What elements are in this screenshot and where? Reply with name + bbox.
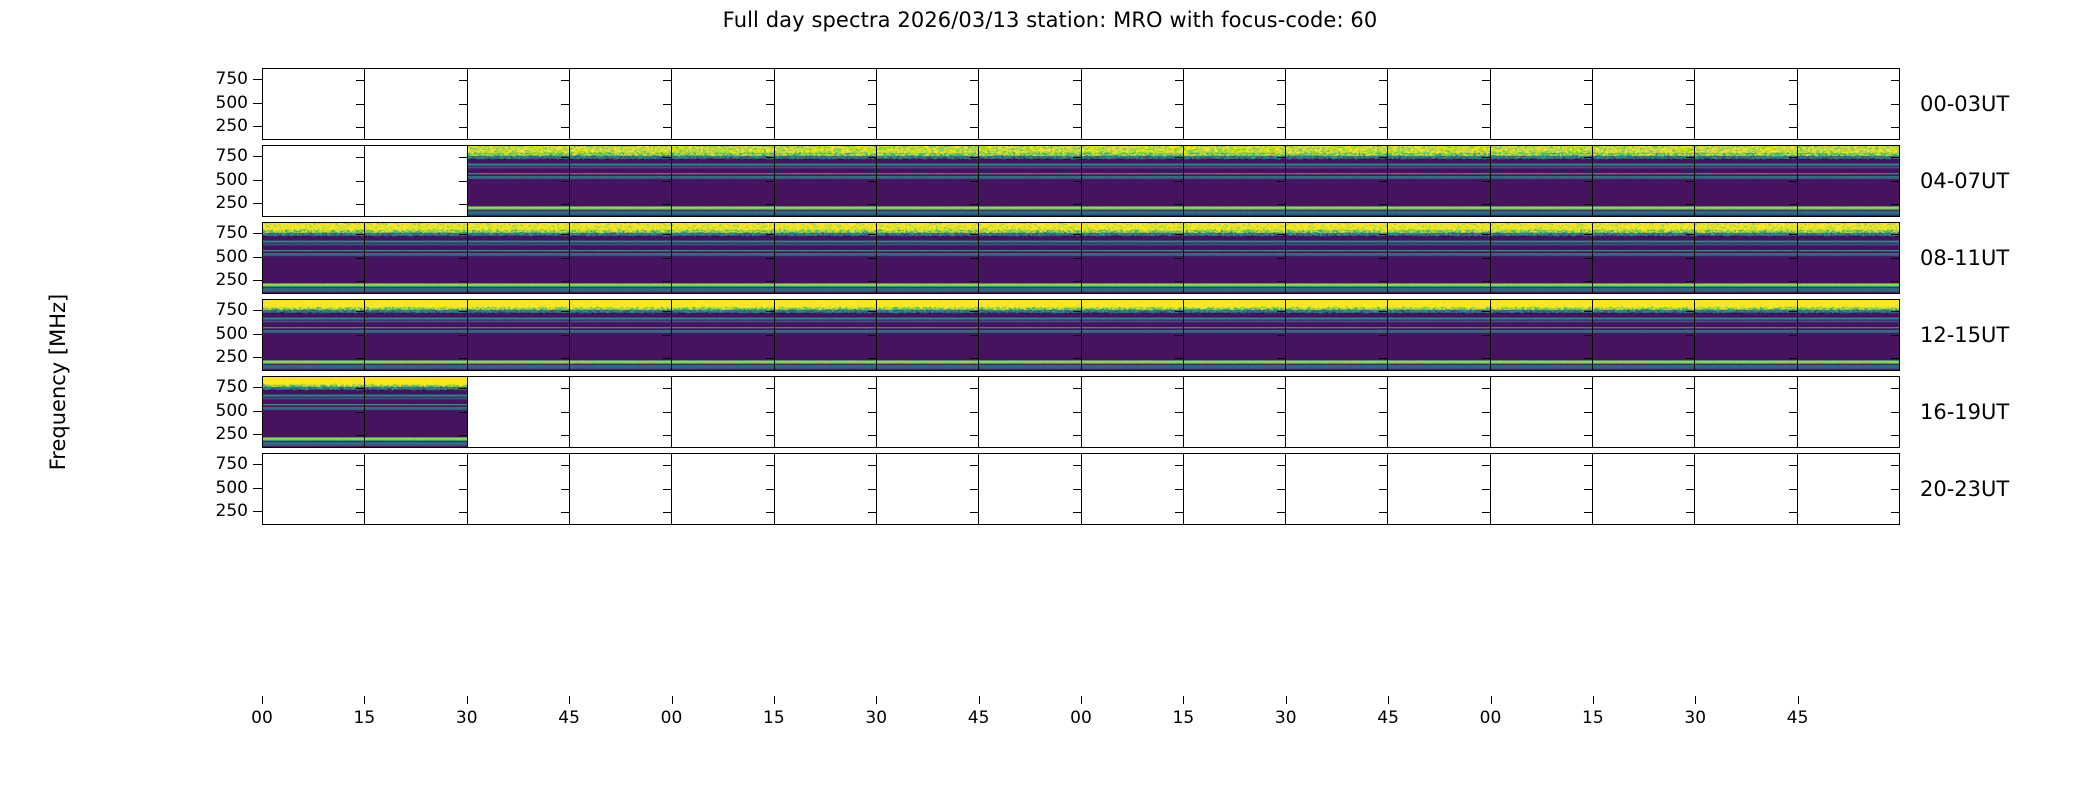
- y-tick-minor: [1891, 258, 1899, 259]
- empty-panel[interactable]: [1695, 69, 1797, 139]
- y-tick-minor: [356, 388, 364, 389]
- y-tick-minor: [868, 127, 876, 128]
- empty-panel[interactable]: [877, 377, 979, 447]
- x-tick-mark: [774, 696, 775, 704]
- row-label-04-07ut: 04-07UT: [1920, 169, 2009, 193]
- spectrogram-panel[interactable]: [979, 223, 1081, 293]
- empty-panel[interactable]: [1388, 454, 1490, 524]
- y-tick-minor: [356, 281, 364, 282]
- y-tick-minor: [766, 181, 774, 182]
- y-tick-minor: [1891, 489, 1899, 490]
- y-tick-minor: [459, 358, 467, 359]
- empty-panel[interactable]: [570, 454, 672, 524]
- empty-panel[interactable]: [1286, 377, 1388, 447]
- y-tick-minor: [1891, 311, 1899, 312]
- y-tick-mark: [253, 488, 262, 489]
- y-tick-minor: [1584, 104, 1592, 105]
- y-tick-minor: [1073, 489, 1081, 490]
- y-tick-minor: [1789, 80, 1797, 81]
- spectrogram-panel[interactable]: [1593, 223, 1695, 293]
- y-tick-minor: [561, 388, 569, 389]
- y-tick-minor: [1482, 157, 1490, 158]
- y-tick-minor: [1175, 311, 1183, 312]
- y-tick-minor: [356, 234, 364, 235]
- y-tick-mark: [253, 464, 262, 465]
- spectrogram-panel[interactable]: [1082, 146, 1184, 216]
- y-tick-minor: [356, 335, 364, 336]
- y-tick-minor: [356, 412, 364, 413]
- spectrogram-panel[interactable]: [1388, 146, 1490, 216]
- spectrogram-panel[interactable]: [877, 223, 979, 293]
- spectrogram-panel[interactable]: [365, 300, 467, 370]
- empty-panel[interactable]: [468, 377, 570, 447]
- y-tick-minor: [766, 465, 774, 466]
- empty-panel[interactable]: [1286, 454, 1388, 524]
- x-tick-label: 15: [354, 708, 376, 728]
- y-tick-minor: [1277, 157, 1285, 158]
- empty-panel[interactable]: [775, 377, 877, 447]
- y-tick-minor: [1891, 465, 1899, 466]
- y-tick-minor: [1584, 388, 1592, 389]
- spectrogram-panel[interactable]: [775, 146, 877, 216]
- y-tick-minor: [1584, 311, 1592, 312]
- empty-panel[interactable]: [1082, 69, 1184, 139]
- y-tick-minor: [1584, 335, 1592, 336]
- y-tick-minor: [459, 127, 467, 128]
- y-tick-minor: [1073, 104, 1081, 105]
- spectrogram-panel[interactable]: [1388, 223, 1490, 293]
- y-tick-mark: [253, 511, 262, 512]
- y-tick-minor: [1379, 465, 1387, 466]
- y-tick-minor: [766, 335, 774, 336]
- spectrogram-panel[interactable]: [365, 223, 467, 293]
- subplot-row-08-11ut: 250500750: [262, 222, 1900, 294]
- y-tick-minor: [1789, 258, 1797, 259]
- y-tick-minor: [356, 435, 364, 436]
- spectrogram-panel[interactable]: [1184, 146, 1286, 216]
- empty-panel[interactable]: [1388, 377, 1490, 447]
- spectrogram-panel[interactable]: [1286, 223, 1388, 293]
- y-tick-minor: [1482, 80, 1490, 81]
- y-tick-minor: [1175, 80, 1183, 81]
- y-tick-minor: [1277, 412, 1285, 413]
- empty-panel[interactable]: [1082, 454, 1184, 524]
- spectrogram-panel[interactable]: [877, 300, 979, 370]
- y-tick-minor: [1175, 435, 1183, 436]
- x-tick-mark: [467, 696, 468, 704]
- y-tick-minor: [663, 435, 671, 436]
- empty-panel[interactable]: [979, 69, 1081, 139]
- y-tick-minor: [970, 412, 978, 413]
- y-tick-minor: [459, 181, 467, 182]
- x-tick-label: 00: [251, 708, 273, 728]
- y-axis-label: Frequency [MHz]: [46, 232, 70, 532]
- y-tick-minor: [970, 258, 978, 259]
- y-tick-minor: [663, 311, 671, 312]
- y-tick-minor: [1073, 335, 1081, 336]
- empty-panel[interactable]: [1593, 454, 1695, 524]
- y-tick-minor: [1277, 489, 1285, 490]
- spectrogram-panel[interactable]: [1184, 300, 1286, 370]
- spectrogram-panel[interactable]: [775, 223, 877, 293]
- empty-panel[interactable]: [570, 69, 672, 139]
- x-tick-mark: [569, 696, 570, 704]
- spectrogram-panel[interactable]: [1798, 223, 1899, 293]
- row-label-12-15ut: 12-15UT: [1920, 323, 2009, 347]
- y-tick-minor: [1277, 335, 1285, 336]
- y-tick-minor: [459, 311, 467, 312]
- y-tick-label: 250: [216, 270, 248, 290]
- spectrogram-panel[interactable]: [979, 300, 1081, 370]
- spectrogram-panel[interactable]: [877, 146, 979, 216]
- subplot-row-20-23ut: 250500750: [262, 453, 1900, 525]
- y-tick-minor: [868, 512, 876, 513]
- panel-strip: [263, 146, 1899, 216]
- y-tick-label: 500: [216, 401, 248, 421]
- y-tick-minor: [459, 335, 467, 336]
- empty-panel[interactable]: [365, 69, 467, 139]
- empty-panel[interactable]: [877, 454, 979, 524]
- y-tick-minor: [1277, 258, 1285, 259]
- y-tick-minor: [459, 104, 467, 105]
- spectrogram-panel[interactable]: [1286, 146, 1388, 216]
- y-tick-minor: [1789, 489, 1797, 490]
- y-tick-minor: [1379, 335, 1387, 336]
- y-tick-minor: [1277, 127, 1285, 128]
- y-tick-minor: [1891, 435, 1899, 436]
- y-tick-minor: [1789, 435, 1797, 436]
- y-tick-minor: [1789, 281, 1797, 282]
- empty-panel[interactable]: [1286, 69, 1388, 139]
- y-tick-minor: [1073, 358, 1081, 359]
- y-tick-minor: [663, 104, 671, 105]
- spectrogram-panel[interactable]: [570, 146, 672, 216]
- y-tick-label: 750: [216, 223, 248, 243]
- y-tick-minor: [1891, 281, 1899, 282]
- y-tick-minor: [1277, 465, 1285, 466]
- y-tick-minor: [766, 80, 774, 81]
- y-tick-minor: [1073, 412, 1081, 413]
- y-tick-minor: [1686, 80, 1694, 81]
- empty-panel[interactable]: [1798, 377, 1899, 447]
- spectrogram-panel[interactable]: [468, 223, 570, 293]
- spectrogram-panel[interactable]: [1082, 300, 1184, 370]
- y-tick-minor: [1277, 435, 1285, 436]
- y-tick-minor: [1482, 104, 1490, 105]
- y-tick-minor: [766, 104, 774, 105]
- y-tick-minor: [868, 157, 876, 158]
- y-tick-minor: [1482, 388, 1490, 389]
- y-tick-minor: [561, 258, 569, 259]
- y-tick-minor: [1175, 335, 1183, 336]
- spectrogram-panel[interactable]: [1798, 146, 1899, 216]
- empty-panel[interactable]: [775, 69, 877, 139]
- spectrogram-panel[interactable]: [570, 223, 672, 293]
- empty-panel[interactable]: [1184, 377, 1286, 447]
- y-tick-minor: [663, 157, 671, 158]
- x-tick-label: 30: [1684, 708, 1706, 728]
- y-tick-minor: [1482, 234, 1490, 235]
- empty-panel[interactable]: [1695, 377, 1797, 447]
- y-tick-label: 250: [216, 116, 248, 136]
- empty-panel[interactable]: [979, 454, 1081, 524]
- y-tick-mark: [253, 156, 262, 157]
- x-tick-label: 45: [1787, 708, 1809, 728]
- y-tick-minor: [356, 489, 364, 490]
- x-tick-label: 30: [456, 708, 478, 728]
- y-tick-minor: [1584, 258, 1592, 259]
- y-tick-minor: [1175, 358, 1183, 359]
- y-tick-minor: [1379, 358, 1387, 359]
- spectrogram-panel[interactable]: [263, 300, 365, 370]
- y-tick-minor: [970, 358, 978, 359]
- y-tick-minor: [459, 435, 467, 436]
- y-tick-minor: [1891, 512, 1899, 513]
- y-tick-minor: [1686, 465, 1694, 466]
- empty-panel[interactable]: [1491, 69, 1593, 139]
- x-tick-label: 30: [1275, 708, 1297, 728]
- y-tick-minor: [1789, 104, 1797, 105]
- y-tick-minor: [970, 157, 978, 158]
- subplot-frame: [262, 376, 1900, 448]
- empty-panel[interactable]: [672, 377, 774, 447]
- empty-panel[interactable]: [1082, 377, 1184, 447]
- x-tick-mark: [1081, 696, 1082, 704]
- empty-panel[interactable]: [468, 69, 570, 139]
- y-tick-minor: [1584, 181, 1592, 182]
- y-tick-mark: [253, 103, 262, 104]
- y-tick-minor: [1482, 335, 1490, 336]
- y-tick-minor: [868, 234, 876, 235]
- empty-panel[interactable]: [365, 146, 467, 216]
- y-tick-minor: [868, 80, 876, 81]
- y-tick-minor: [356, 181, 364, 182]
- y-tick-minor: [663, 281, 671, 282]
- y-tick-minor: [561, 234, 569, 235]
- y-tick-minor: [459, 258, 467, 259]
- spectrogram-panel[interactable]: [1798, 300, 1899, 370]
- y-tick-label: 250: [216, 347, 248, 367]
- y-tick-minor: [1175, 104, 1183, 105]
- empty-panel[interactable]: [365, 454, 467, 524]
- y-tick-minor: [1584, 80, 1592, 81]
- spectrogram-panel[interactable]: [468, 146, 570, 216]
- x-tick-mark: [876, 696, 877, 704]
- y-tick-minor: [459, 157, 467, 158]
- y-tick-mark: [253, 257, 262, 258]
- y-tick-mark: [253, 203, 262, 204]
- y-tick-minor: [561, 311, 569, 312]
- y-tick-minor: [1482, 435, 1490, 436]
- y-tick-minor: [868, 435, 876, 436]
- y-tick-minor: [1789, 157, 1797, 158]
- y-tick-minor: [1277, 281, 1285, 282]
- spectrogram-panel[interactable]: [1593, 300, 1695, 370]
- spectrogram-panel[interactable]: [1491, 146, 1593, 216]
- panel-strip: [263, 300, 1899, 370]
- y-tick-minor: [356, 258, 364, 259]
- y-tick-minor: [766, 435, 774, 436]
- y-tick-minor: [970, 465, 978, 466]
- y-tick-minor: [1482, 127, 1490, 128]
- y-tick-minor: [1482, 358, 1490, 359]
- y-tick-minor: [1175, 181, 1183, 182]
- row-label-00-03ut: 00-03UT: [1920, 92, 2009, 116]
- subplot-frame: [262, 222, 1900, 294]
- y-tick-minor: [1379, 388, 1387, 389]
- empty-panel[interactable]: [1593, 69, 1695, 139]
- spectrogram-panel[interactable]: [1695, 300, 1797, 370]
- x-tick-mark: [1695, 696, 1696, 704]
- y-tick-minor: [1277, 512, 1285, 513]
- y-tick-minor: [1584, 512, 1592, 513]
- empty-panel[interactable]: [263, 69, 365, 139]
- spectrogram-panel[interactable]: [1695, 146, 1797, 216]
- empty-panel[interactable]: [1184, 454, 1286, 524]
- y-tick-minor: [970, 204, 978, 205]
- y-tick-minor: [1686, 358, 1694, 359]
- empty-panel[interactable]: [1798, 454, 1899, 524]
- y-tick-minor: [868, 388, 876, 389]
- y-tick-mark: [253, 126, 262, 127]
- subplot-frame: [262, 453, 1900, 525]
- y-tick-minor: [1379, 311, 1387, 312]
- spectrogram-panel[interactable]: [263, 223, 365, 293]
- subplot-frame: [262, 145, 1900, 217]
- y-tick-minor: [663, 258, 671, 259]
- panel-strip: [263, 69, 1899, 139]
- y-tick-minor: [868, 489, 876, 490]
- y-tick-minor: [1584, 435, 1592, 436]
- y-tick-minor: [356, 127, 364, 128]
- empty-panel[interactable]: [468, 454, 570, 524]
- empty-panel[interactable]: [1593, 377, 1695, 447]
- empty-panel[interactable]: [1695, 454, 1797, 524]
- x-tick-mark: [1183, 696, 1184, 704]
- empty-panel[interactable]: [263, 146, 365, 216]
- y-tick-minor: [1891, 104, 1899, 105]
- spectrogram-panel[interactable]: [468, 300, 570, 370]
- y-tick-minor: [663, 358, 671, 359]
- empty-panel[interactable]: [775, 454, 877, 524]
- y-tick-minor: [459, 512, 467, 513]
- y-tick-minor: [1073, 234, 1081, 235]
- y-tick-minor: [1379, 412, 1387, 413]
- spectrogram-panel[interactable]: [263, 377, 365, 447]
- spectrogram-panel[interactable]: [1695, 223, 1797, 293]
- empty-panel[interactable]: [1184, 69, 1286, 139]
- y-tick-minor: [868, 204, 876, 205]
- spectrogram-panel[interactable]: [1082, 223, 1184, 293]
- spectrogram-panel[interactable]: [1491, 223, 1593, 293]
- y-tick-minor: [1789, 358, 1797, 359]
- x-tick-label: 30: [865, 708, 887, 728]
- panel-strip: [263, 223, 1899, 293]
- y-tick-minor: [1482, 412, 1490, 413]
- y-tick-minor: [561, 512, 569, 513]
- spectrogram-panel[interactable]: [672, 223, 774, 293]
- empty-panel[interactable]: [672, 69, 774, 139]
- y-tick-minor: [1789, 204, 1797, 205]
- y-tick-minor: [1686, 234, 1694, 235]
- empty-panel[interactable]: [1798, 69, 1899, 139]
- y-tick-minor: [1686, 258, 1694, 259]
- empty-panel[interactable]: [1388, 69, 1490, 139]
- y-tick-minor: [459, 412, 467, 413]
- y-tick-minor: [561, 104, 569, 105]
- spectrogram-panel[interactable]: [979, 146, 1081, 216]
- empty-panel[interactable]: [263, 454, 365, 524]
- spectrogram-panel[interactable]: [1491, 300, 1593, 370]
- y-tick-minor: [663, 512, 671, 513]
- y-tick-mark: [253, 79, 262, 80]
- x-tick-label: 00: [1070, 708, 1092, 728]
- spectrogram-panel[interactable]: [1593, 146, 1695, 216]
- spectrogram-panel[interactable]: [775, 300, 877, 370]
- y-tick-minor: [1789, 335, 1797, 336]
- spectrogram-panel[interactable]: [1388, 300, 1490, 370]
- y-tick-label: 750: [216, 454, 248, 474]
- x-tick-label: 15: [1582, 708, 1604, 728]
- y-tick-minor: [1482, 281, 1490, 282]
- y-tick-minor: [1789, 234, 1797, 235]
- y-tick-minor: [1686, 181, 1694, 182]
- y-tick-minor: [1891, 181, 1899, 182]
- y-tick-minor: [561, 281, 569, 282]
- x-tick-mark: [979, 696, 980, 704]
- empty-panel[interactable]: [979, 377, 1081, 447]
- y-tick-minor: [1584, 412, 1592, 413]
- y-tick-minor: [1379, 127, 1387, 128]
- empty-panel[interactable]: [1491, 377, 1593, 447]
- y-tick-minor: [1482, 181, 1490, 182]
- y-tick-label: 750: [216, 300, 248, 320]
- empty-panel[interactable]: [570, 377, 672, 447]
- y-tick-minor: [1379, 258, 1387, 259]
- y-tick-label: 500: [216, 93, 248, 113]
- y-tick-minor: [970, 512, 978, 513]
- x-tick-label: 45: [558, 708, 580, 728]
- spectrogram-panel[interactable]: [672, 300, 774, 370]
- empty-panel[interactable]: [1491, 454, 1593, 524]
- y-tick-minor: [868, 311, 876, 312]
- y-tick-minor: [1891, 127, 1899, 128]
- y-tick-minor: [1073, 465, 1081, 466]
- spectrogram-panel[interactable]: [672, 146, 774, 216]
- y-tick-minor: [459, 80, 467, 81]
- y-tick-minor: [1277, 358, 1285, 359]
- y-tick-minor: [1891, 388, 1899, 389]
- subplot-row-12-15ut: 250500750: [262, 299, 1900, 371]
- spectrogram-panel[interactable]: [1184, 223, 1286, 293]
- y-tick-minor: [1073, 80, 1081, 81]
- subplot-frame: [262, 68, 1900, 140]
- y-tick-minor: [766, 157, 774, 158]
- y-tick-minor: [663, 465, 671, 466]
- spectrogram-panel[interactable]: [365, 377, 467, 447]
- spectrogram-panel[interactable]: [1286, 300, 1388, 370]
- y-tick-minor: [1686, 281, 1694, 282]
- y-tick-minor: [1686, 157, 1694, 158]
- y-tick-minor: [1891, 335, 1899, 336]
- empty-panel[interactable]: [877, 69, 979, 139]
- y-tick-minor: [970, 80, 978, 81]
- empty-panel[interactable]: [672, 454, 774, 524]
- spectrogram-panel[interactable]: [570, 300, 672, 370]
- y-tick-minor: [356, 80, 364, 81]
- y-tick-mark: [253, 180, 262, 181]
- y-tick-minor: [766, 281, 774, 282]
